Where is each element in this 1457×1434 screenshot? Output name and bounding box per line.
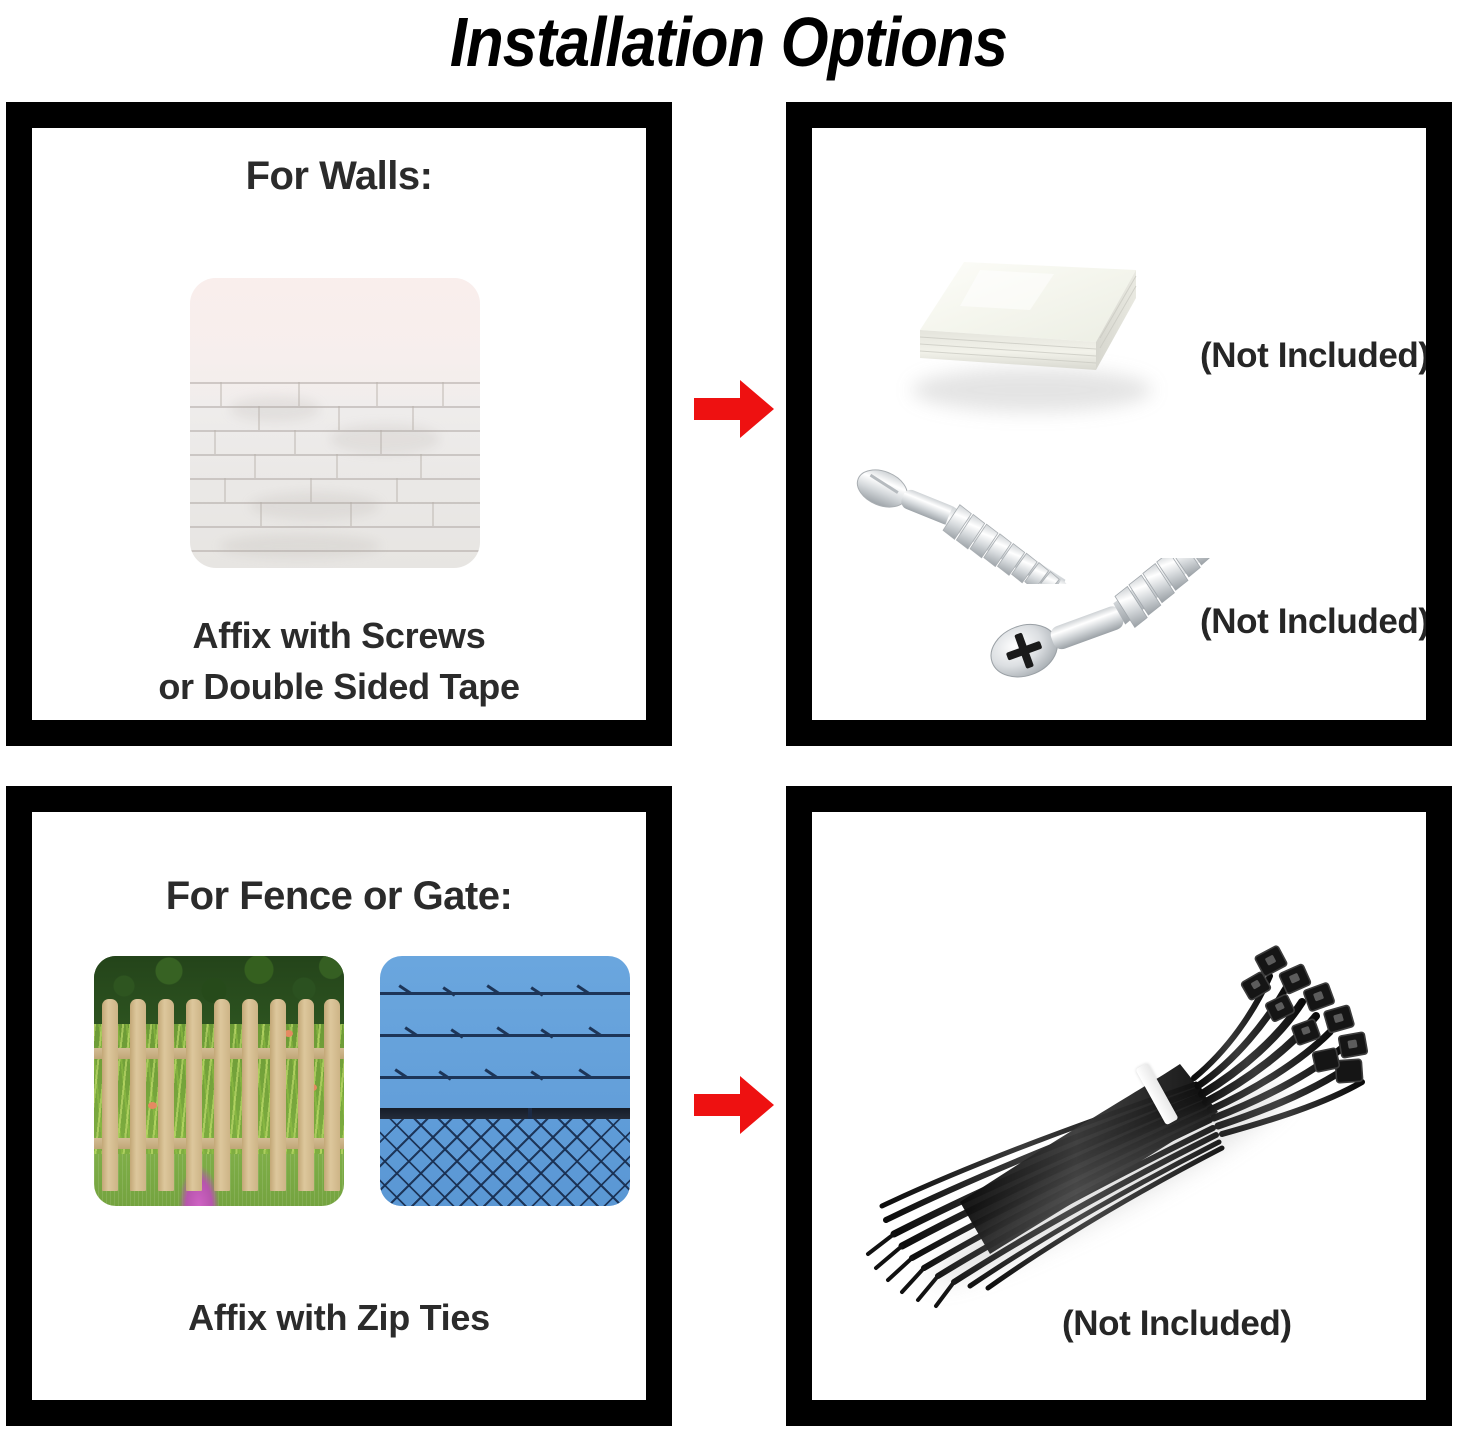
- white-brick-wall-photo: [190, 278, 480, 568]
- walls-caption: Affix with Screws or Double Sided Tape: [32, 610, 646, 712]
- red-right-arrow: [692, 376, 776, 442]
- panel-wall-hardware: (Not Included): [786, 102, 1452, 746]
- walls-caption-line1: Affix with Screws: [32, 610, 646, 661]
- for-fence-or-gate-heading: For Fence or Gate:: [32, 874, 646, 919]
- zipties-not-included-label: (Not Included): [1062, 1304, 1292, 1344]
- double-sided-tape-stack-photo: [898, 258, 1166, 433]
- black-zip-ties-bundle-photo: [850, 924, 1370, 1324]
- wooden-picket-fence-photo: [94, 956, 344, 1206]
- screws-not-included-label: (Not Included): [1200, 602, 1426, 642]
- panel-fence-hardware-inner: (Not Included): [812, 812, 1426, 1400]
- panel-for-fence-or-gate: For Fence or Gate:: [6, 786, 672, 1426]
- red-right-arrow: [692, 1072, 776, 1138]
- fence-caption-line1: Affix with Zip Ties: [32, 1292, 646, 1343]
- chain-link-barbed-wire-fence-photo: [380, 956, 630, 1206]
- fence-caption: Affix with Zip Ties: [32, 1292, 646, 1343]
- panel-wall-hardware-inner: (Not Included): [812, 128, 1426, 720]
- panel-fence-hardware: (Not Included): [786, 786, 1452, 1426]
- panel-for-fence-or-gate-inner: For Fence or Gate:: [32, 812, 646, 1400]
- walls-caption-line2: or Double Sided Tape: [32, 661, 646, 712]
- tape-not-included-label: (Not Included): [1200, 336, 1426, 376]
- page-title: Installation Options: [87, 0, 1369, 88]
- panel-for-walls: For Walls:: [6, 102, 672, 746]
- for-walls-heading: For Walls:: [32, 154, 646, 199]
- panel-for-walls-inner: For Walls:: [32, 128, 646, 720]
